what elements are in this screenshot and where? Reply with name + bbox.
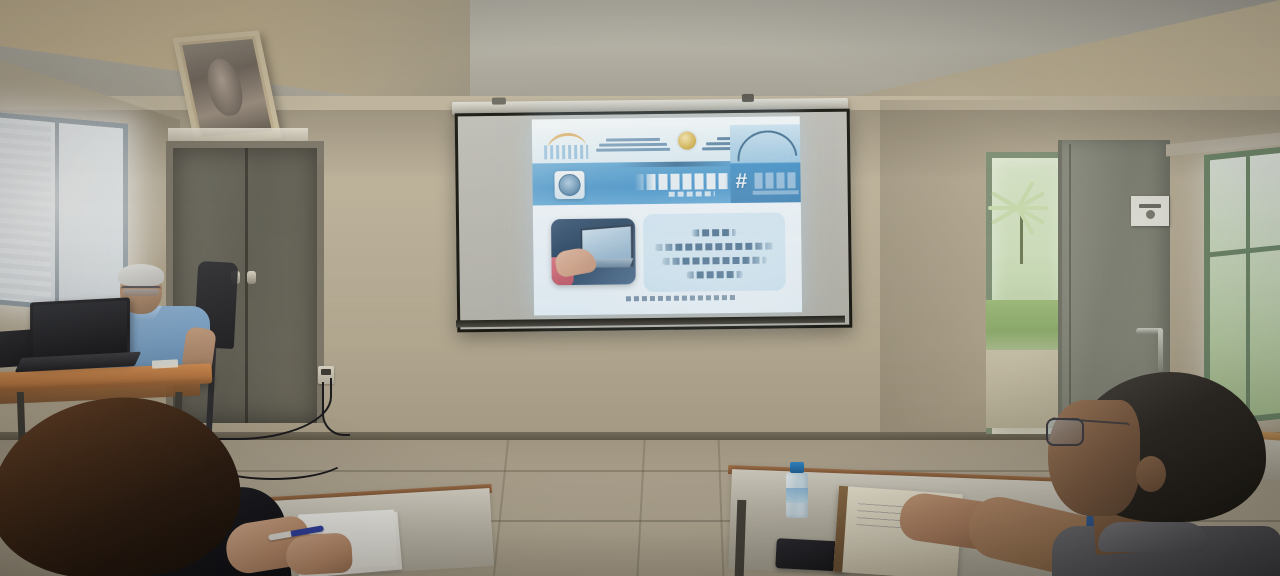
door-handle-icon[interactable] [247,271,256,284]
logo-bars [544,145,588,160]
portrait-image [182,39,272,137]
hashtag-subline [753,190,799,195]
presenter-hair [118,264,164,286]
window-blind [0,118,51,305]
slide-title-block [643,212,786,292]
door-lock-plate [1158,328,1163,372]
slide-title-line-2 [655,242,773,250]
slide-laptop-photo [551,218,636,285]
attendee-ear [1136,456,1166,492]
sign-text-line [1139,204,1161,208]
header-text-left [594,129,672,160]
screen-bracket-icon [492,98,506,105]
bottle-label [786,488,808,503]
header-text-line [596,147,670,151]
hashtag-block: # [730,124,801,203]
screen-bracket-icon [742,94,754,102]
window-mullion [1210,244,1280,258]
ministry-logo-icon [540,131,592,162]
slide-header-banner: # [532,124,801,205]
projection-screen: # [455,109,853,333]
window-mullion [55,122,59,304]
hashtag-wordmark [754,172,798,189]
banner-subtitle-text [669,191,715,197]
door-notice-sign [1131,196,1169,226]
emblem-inner [558,174,580,196]
projected-slide: # [532,116,802,315]
outlet-socket-icon [321,369,331,375]
directorate-emblem-icon [554,171,584,199]
palm-tree [990,156,1054,266]
banner-title-text [634,173,744,190]
bottle-cap[interactable] [790,462,804,473]
outside-grass [986,300,1058,352]
header-text-line [599,142,667,146]
water-bottle[interactable] [786,462,808,518]
classroom-photo: # [0,0,1280,576]
slide-title-line-4 [687,270,743,278]
glasses-icon [121,286,161,296]
slide-title-line-1 [692,228,736,236]
door-transom [168,128,308,142]
attendee-hair [0,389,246,576]
support-hand [285,532,353,575]
desk-paper [152,359,178,368]
right-attendee-person [1032,372,1280,576]
attendee-collar [1098,522,1208,552]
slide-title-line-3 [662,256,766,264]
glasses-icon [1046,418,1084,446]
header-subtitle-line [618,161,734,167]
header-text-line [606,137,660,141]
slide-date-line [626,295,736,301]
gold-emblem-icon [678,131,696,149]
hashtag-icon: # [735,171,747,192]
sign-emblem-icon [1146,210,1155,219]
